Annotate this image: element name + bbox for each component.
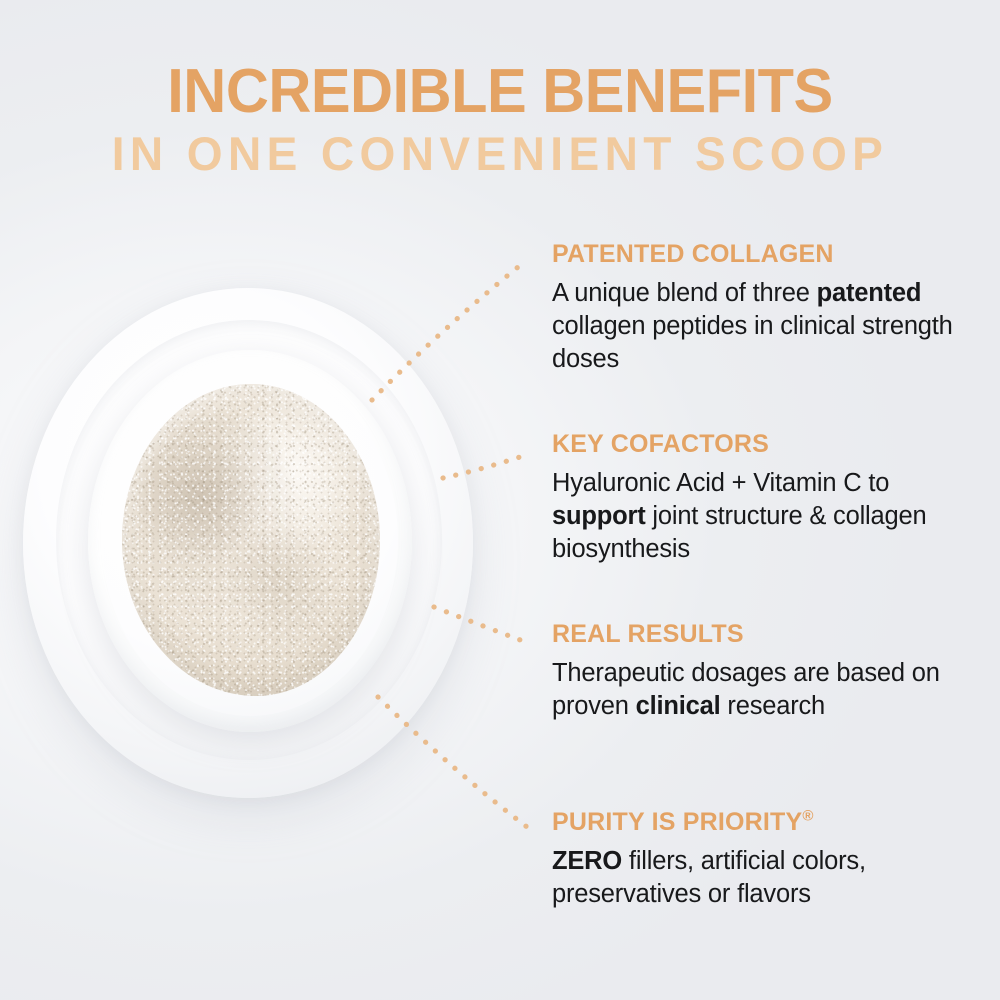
headline-secondary: IN ONE CONVENIENT SCOOP (10, 129, 990, 178)
benefit-body-1-part-1: A unique blend of three (552, 279, 817, 307)
benefit-title-1: PATENTED COLLAGEN (552, 240, 972, 269)
collagen-powder (122, 384, 380, 696)
benefit-body-1-emphasis: patented (817, 279, 922, 307)
benefit-block-purity-is-priority: PURITY IS PRIORITY® ZERO fillers, artifi… (552, 808, 972, 911)
headline-block: INCREDIBLE BENEFITS IN ONE CONVENIENT SC… (0, 62, 1000, 178)
benefit-title-4: PURITY IS PRIORITY® (552, 808, 972, 837)
benefit-body-4-emphasis: ZERO (552, 847, 622, 875)
benefit-body-1: A unique blend of three patented collage… (552, 277, 972, 376)
benefit-body-2-emphasis: support (552, 502, 646, 530)
benefit-title-3-text: REAL RESULTS (552, 620, 744, 648)
benefit-block-real-results: REAL RESULTS Therapeutic dosages are bas… (552, 620, 972, 723)
benefit-body-1-part-3: collagen peptides in clinical strength d… (552, 312, 953, 373)
benefit-body-4: ZERO fillers, artificial colors, preserv… (552, 845, 972, 911)
benefit-title-4-text: PURITY IS PRIORITY (552, 808, 802, 836)
benefit-title-2: KEY COFACTORS (552, 430, 972, 459)
powder-fine-grain-texture (122, 384, 380, 696)
benefit-block-patented-collagen: PATENTED COLLAGEN A unique blend of thre… (552, 240, 972, 376)
benefit-body-3-part-3: research (721, 692, 826, 720)
benefit-body-3: Therapeutic dosages are based on proven … (552, 657, 972, 723)
benefit-body-3-emphasis: clinical (636, 692, 721, 720)
infographic-canvas: INCREDIBLE BENEFITS IN ONE CONVENIENT SC… (0, 0, 1000, 1000)
benefit-body-2: Hyaluronic Acid + Vitamin C to support j… (552, 467, 972, 566)
benefit-title-2-text: KEY COFACTORS (552, 430, 769, 458)
headline-primary: INCREDIBLE BENEFITS (20, 62, 980, 123)
benefit-body-2-part-1: Hyaluronic Acid + Vitamin C to (552, 469, 889, 497)
benefit-block-key-cofactors: KEY COFACTORS Hyaluronic Acid + Vitamin … (552, 430, 972, 566)
registered-trademark-icon: ® (802, 808, 813, 825)
benefit-title-3: REAL RESULTS (552, 620, 972, 649)
benefit-title-1-text: PATENTED COLLAGEN (552, 240, 834, 268)
product-photo-bowl-of-powder (18, 268, 488, 828)
